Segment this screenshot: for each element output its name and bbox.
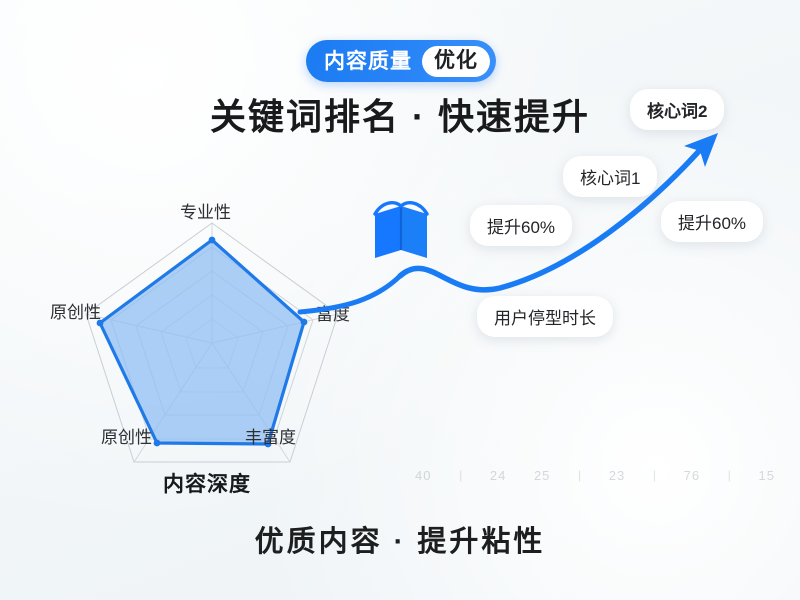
axis-value: 24 <box>490 468 506 483</box>
axis-tick: | <box>653 468 656 482</box>
radar-chart <box>30 215 390 465</box>
radar-axis-label-top: 专业性 <box>180 198 231 223</box>
chip-uplift-right[interactable]: 提升60% <box>661 201 763 242</box>
chip-core-keyword-1[interactable]: 核心词1 <box>563 156 657 197</box>
poster-canvas: 内容质量 优化 关键词排名 · 快速提升 专业性 原创性 富度 原创性 <box>0 0 800 600</box>
axis-value: 76 <box>684 468 700 483</box>
axis-tick: | <box>578 468 581 482</box>
radar-axis-label-right: 富度 <box>316 300 350 325</box>
axis-value: 40 <box>415 468 431 483</box>
axis-tick: | <box>459 468 462 482</box>
open-book-icon <box>370 188 432 270</box>
radar-caption: 内容深度 <box>163 468 251 498</box>
chip-core-keyword-2[interactable]: 核心词2 <box>630 89 724 130</box>
axis-value: 23 <box>609 468 625 483</box>
radar-series-content-quality <box>97 237 308 448</box>
radar-axis-label-left: 原创性 <box>50 298 101 323</box>
content-quality-badge[interactable]: 内容质量 优化 <box>306 40 496 82</box>
badge-main-label: 内容质量 <box>324 51 422 72</box>
chip-uplift-left[interactable]: 提升60% <box>470 205 572 246</box>
chip-dwell-time[interactable]: 用户停型时长 <box>477 296 613 337</box>
axis-tick: | <box>728 468 731 482</box>
axis-value: 15 <box>758 468 774 483</box>
radar-axis-label-bottom-left: 原创性 <box>101 423 152 448</box>
page-subtitle: 优质内容 · 提升粘性 <box>0 518 800 560</box>
radar-axis-label-bottom-right: 丰富度 <box>245 423 296 448</box>
faint-axis-strip: 40 | 24 25 | 23 | 76 | 15 <box>415 463 775 487</box>
badge-chip-label: 优化 <box>422 46 490 77</box>
axis-value: 25 <box>534 468 550 483</box>
